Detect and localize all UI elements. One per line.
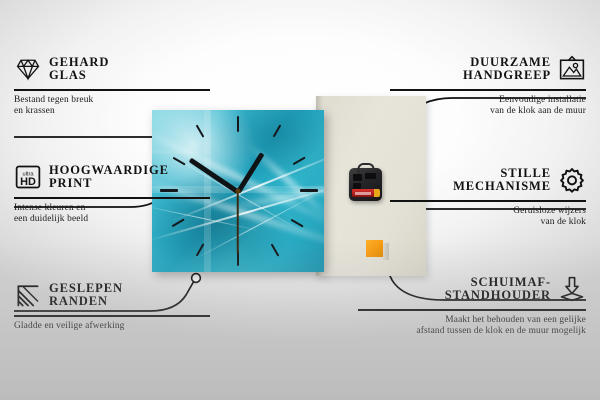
feature-title: STILLEMECHANISME <box>453 167 551 194</box>
clock-tick <box>300 189 318 192</box>
feature-title: SCHUIMAF-STANDHOUDER <box>445 276 551 303</box>
beveled-edges-icon <box>14 281 42 309</box>
gear-icon <box>558 166 586 194</box>
diamond-icon <box>14 55 42 83</box>
feature-divider <box>390 200 586 202</box>
feature-divider <box>14 89 210 91</box>
feature-divider <box>358 309 586 311</box>
feature-description: Geruisloze wijzersvan de klok <box>390 206 586 229</box>
clock-second-hand <box>237 192 239 254</box>
battery-label <box>355 192 371 195</box>
feature-divider <box>14 315 210 317</box>
feature-description: Gladde en veilige afwerking <box>14 321 210 332</box>
feature-description: Bestand tegen breuken krassen <box>14 95 210 118</box>
feature-geslepen-randen: GESLEPENRANDEN Gladde en veilige afwerki… <box>14 278 210 332</box>
foam-spacer-side <box>383 243 389 260</box>
feature-description: Maakt het behouden van een gelijkeafstan… <box>358 315 586 338</box>
feature-description: Eenvoudige installatievan de klok aan de… <box>390 95 586 118</box>
mechanism-slot <box>353 174 362 181</box>
mechanism-slot <box>365 173 376 179</box>
feature-title: GESLEPENRANDEN <box>49 282 123 309</box>
foam-spacer-pad <box>366 240 383 257</box>
feature-hoogwaardige-print: ultra HD HOOGWAARDIGEPRINT Intense kleur… <box>14 160 210 225</box>
ultra-hd-icon-main-text: HD <box>20 176 36 188</box>
picture-frame-hanger-icon <box>558 55 586 83</box>
feature-gehard-glas: GEHARDGLAS Bestand tegen breuken krassen <box>14 52 210 117</box>
feature-schuimafstandhouder: SCHUIMAF-STANDHOUDER Maakt het behouden … <box>358 272 586 337</box>
ultra-hd-icon: ultra HD <box>14 163 42 191</box>
feature-title: GEHARDGLAS <box>49 56 109 83</box>
feature-divider <box>390 89 586 91</box>
infographic-canvas: GEHARDGLAS Bestand tegen breuken krassen… <box>0 0 600 400</box>
foam-spacer-arrow-icon <box>558 275 586 303</box>
feature-title: HOOGWAARDIGEPRINT <box>49 164 169 191</box>
feature-title: DUURZAMEHANDGREEP <box>463 56 551 83</box>
feature-stille-mechanisme: STILLEMECHANISME Geruisloze wijzersvan d… <box>390 163 586 228</box>
battery <box>352 189 379 197</box>
feature-divider <box>14 197 210 199</box>
feature-duurzame-handgreep: DUURZAMEHANDGREEP Eenvoudige installatie… <box>390 52 586 117</box>
clock-center-hub <box>236 189 241 194</box>
battery-plus-terminal <box>374 189 380 197</box>
clock-mechanism <box>349 168 382 201</box>
feature-description: Intense kleuren eneen duidelijk beeld <box>14 203 210 226</box>
